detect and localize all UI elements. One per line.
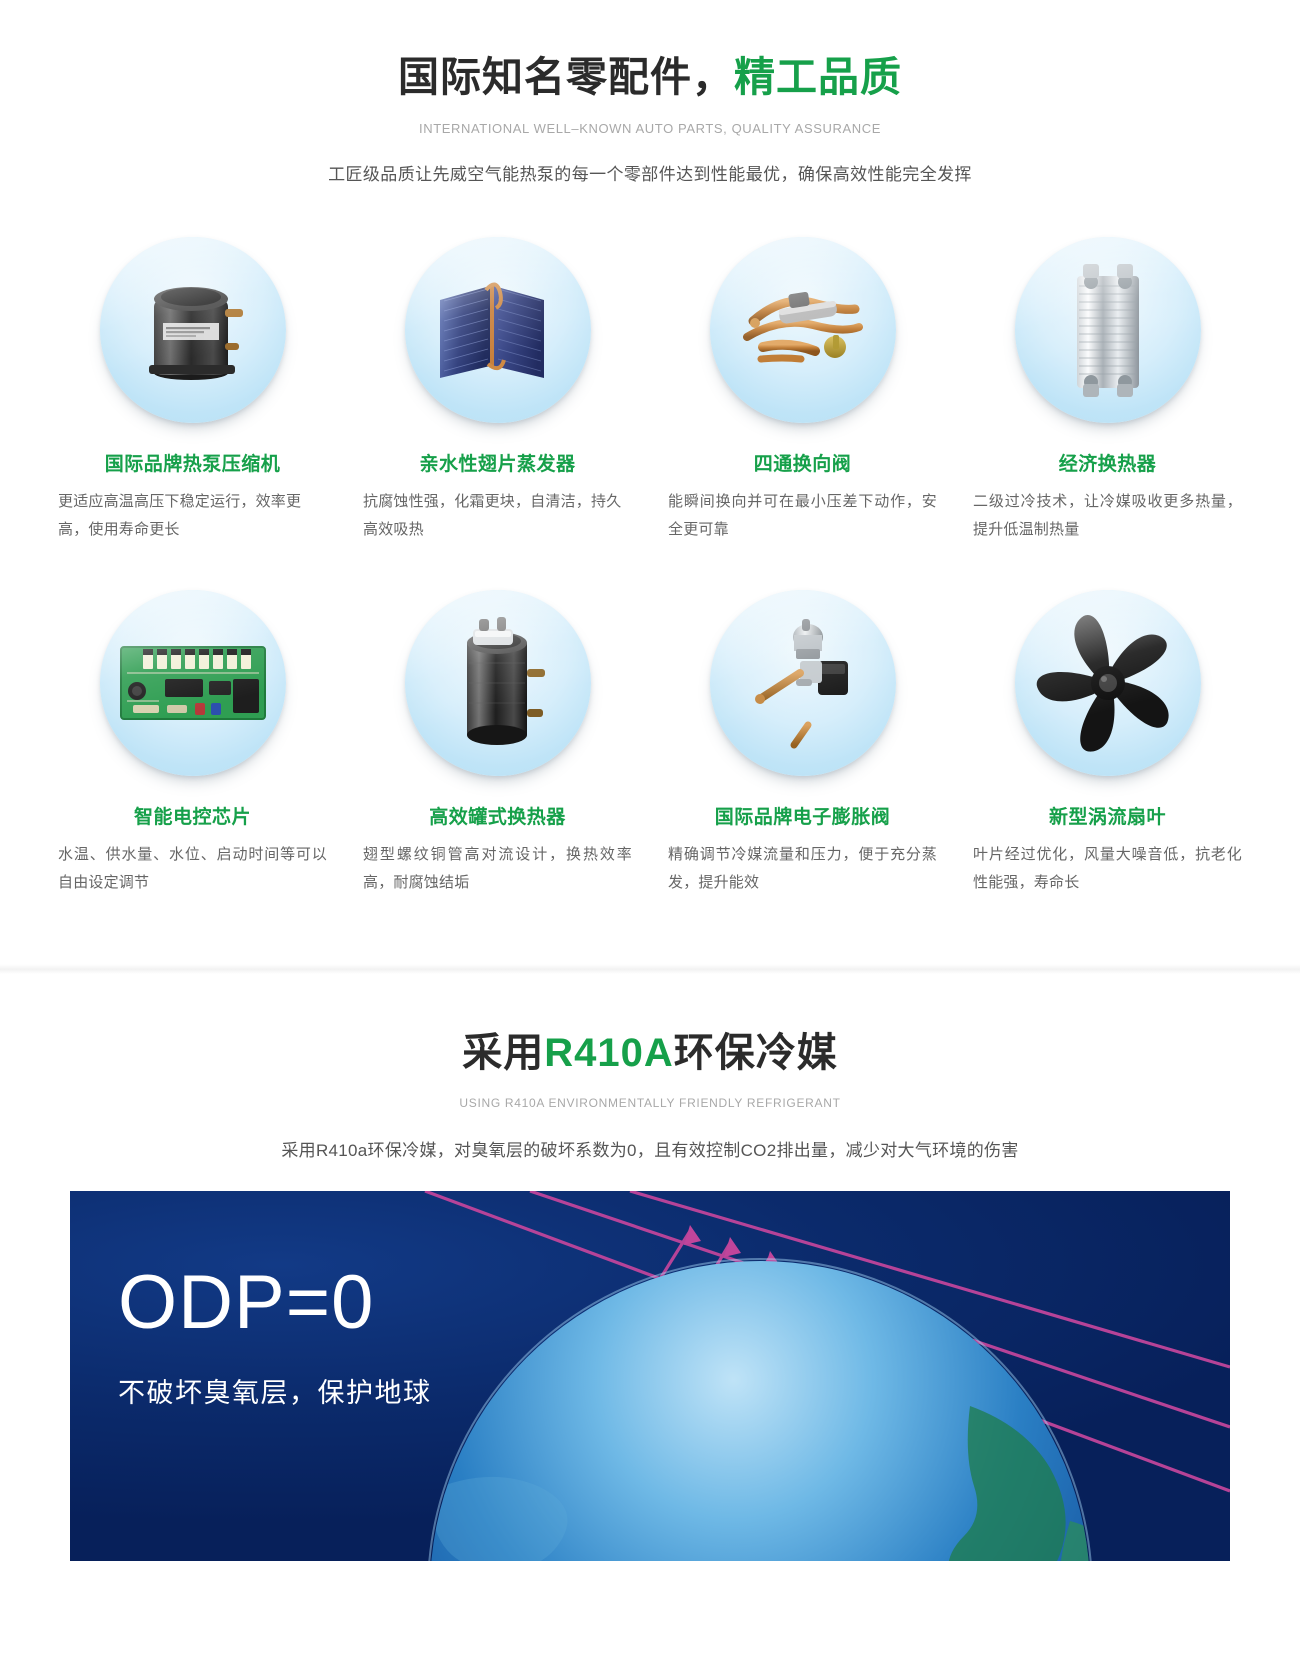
page-title: 国际知名零配件，精工品质 [0, 52, 1300, 103]
page-subtitle-english: INTERNATIONAL WELL–KNOWN AUTO PARTS, QUA… [0, 121, 1300, 136]
badge-wrap [58, 237, 327, 423]
badge-wrap [363, 237, 632, 423]
card-title: 亲水性翅片蒸发器 [363, 449, 632, 476]
bottom-padding [0, 1561, 1300, 1621]
odp-text-block: ODP=0 不破坏臭氧层，保护地球 [118, 1265, 432, 1410]
card-description: 更适应高温高压下稳定运行，效率更高，使用寿命更长 [58, 488, 327, 544]
refrigerant-title: 采用R410A环保冷媒 [0, 1020, 1300, 1078]
badge-wrap [363, 590, 632, 776]
card-title: 新型涡流扇叶 [973, 802, 1242, 829]
refrigerant-section: 采用R410A环保冷媒 USING R410A ENVIRONMENTALLY … [0, 974, 1300, 1621]
page-title-accent: 精工品质 [734, 54, 902, 100]
card-title: 经济换热器 [973, 449, 1242, 476]
card-title: 智能电控芯片 [58, 802, 327, 829]
badge-wrap [668, 237, 937, 423]
refrigerant-title-post: 环保冷媒 [674, 1031, 838, 1075]
refrigerant-title-pre: 采用 [462, 1031, 544, 1075]
parts-card-grid: 国际品牌热泵压缩机 更适应高温高压下稳定运行，效率更高，使用寿命更长 [0, 237, 1300, 896]
page-title-plain: 国际知名零配件， [398, 54, 734, 100]
part-card-tank-exchanger[interactable]: 高效罐式换热器 翅型螺纹铜管高对流设计，换热效率高，耐腐蚀结垢 [345, 590, 650, 897]
four-way-reversing-valve-icon [710, 237, 896, 423]
part-card-plate-exchanger[interactable]: 经济换热器 二级过冷技术，让冷媒吸收更多热量，提升低温制热量 [955, 237, 1260, 544]
part-card-four-way-valve[interactable]: 四通换向阀 能瞬间换向并可在最小压差下动作，安全更可靠 [650, 237, 955, 544]
card-description: 叶片经过优化，风量大噪音低，抗老化性能强，寿命长 [973, 841, 1242, 897]
part-card-compressor[interactable]: 国际品牌热泵压缩机 更适应高温高压下稳定运行，效率更高，使用寿命更长 [40, 237, 345, 544]
card-title: 国际品牌电子膨胀阀 [668, 802, 937, 829]
card-description: 翅型螺纹铜管高对流设计，换热效率高，耐腐蚀结垢 [363, 841, 632, 897]
odp-headline: ODP=0 [118, 1265, 432, 1341]
axial-fan-blade-icon [1015, 590, 1201, 776]
finned-evaporator-icon [405, 237, 591, 423]
section-gap [0, 896, 1300, 940]
section-divider [0, 964, 1300, 974]
part-card-evaporator[interactable]: 亲水性翅片蒸发器 抗腐蚀性强，化霜更块，自清洁，持久高效吸热 [345, 237, 650, 544]
card-title: 国际品牌热泵压缩机 [58, 449, 327, 476]
refrigerant-description: 采用R410a环保冷媒，对臭氧层的破坏系数为0，且有效控制CO2排出量，减少对大… [0, 1136, 1300, 1161]
part-card-expansion-valve[interactable]: 国际品牌电子膨胀阀 精确调节冷媒流量和压力，便于充分蒸发，提升能效 [650, 590, 955, 897]
badge-wrap [973, 590, 1242, 776]
badge-wrap [973, 237, 1242, 423]
tank-heat-exchanger-icon [405, 590, 591, 776]
scroll-compressor-icon [100, 237, 286, 423]
control-board-icon [100, 590, 286, 776]
electronic-expansion-valve-icon [710, 590, 896, 776]
card-title: 四通换向阀 [668, 449, 937, 476]
badge-wrap [58, 590, 327, 776]
page-description: 工匠级品质让先威空气能热泵的每一个零部件达到性能最优，确保高效性能完全发挥 [0, 160, 1300, 185]
card-description: 抗腐蚀性强，化霜更块，自清洁，持久高效吸热 [363, 488, 632, 544]
odp-banner: ODP=0 不破坏臭氧层，保护地球 [70, 1191, 1230, 1561]
odp-tagline: 不破坏臭氧层，保护地球 [118, 1371, 432, 1410]
refrigerant-subtitle-english: USING R410A ENVIRONMENTALLY FRIENDLY REF… [0, 1096, 1300, 1110]
card-description: 二级过冷技术，让冷媒吸收更多热量，提升低温制热量 [973, 488, 1242, 544]
refrigerant-title-accent: R410A [544, 1031, 674, 1075]
parts-quality-section: 国际知名零配件，精工品质 INTERNATIONAL WELL–KNOWN AU… [0, 0, 1300, 974]
card-title: 高效罐式换热器 [363, 802, 632, 829]
plate-heat-exchanger-icon [1015, 237, 1201, 423]
card-description: 能瞬间换向并可在最小压差下动作，安全更可靠 [668, 488, 937, 544]
part-card-fan-blade[interactable]: 新型涡流扇叶 叶片经过优化，风量大噪音低，抗老化性能强，寿命长 [955, 590, 1260, 897]
part-card-control-board[interactable]: 智能电控芯片 水温、供水量、水位、启动时间等可以自由设定调节 [40, 590, 345, 897]
card-description: 精确调节冷媒流量和压力，便于充分蒸发，提升能效 [668, 841, 937, 897]
card-description: 水温、供水量、水位、启动时间等可以自由设定调节 [58, 841, 327, 897]
badge-wrap [668, 590, 937, 776]
